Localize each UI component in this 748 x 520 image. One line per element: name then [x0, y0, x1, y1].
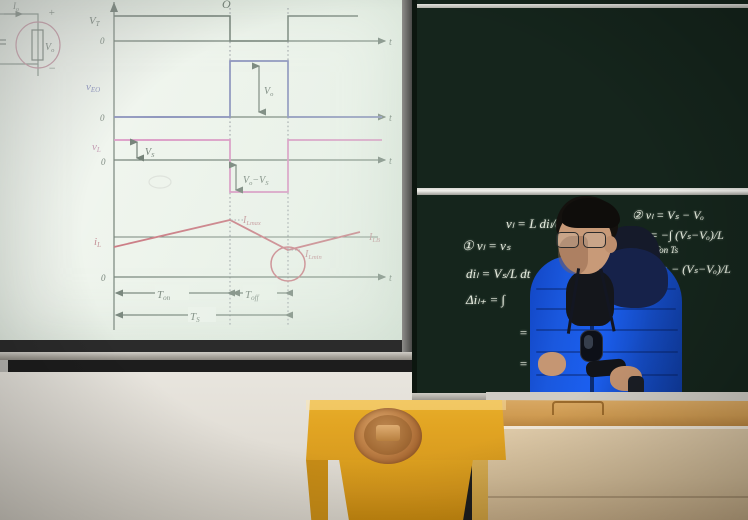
- plot-vl-ylabel: vL: [92, 141, 101, 154]
- plot-il-peak-label: ILmax: [242, 215, 261, 227]
- plot-vl-vo-vs-label: Vo−VS: [243, 175, 269, 187]
- slide-origin-label: O: [222, 0, 231, 11]
- podium-side: [306, 450, 328, 520]
- podium: [306, 400, 506, 520]
- circuit-io-label: Io: [12, 1, 19, 13]
- plot-vl-vs-label: VS: [145, 147, 155, 159]
- slide-buck-converter-waveforms: Io Vo + −: [0, 0, 402, 340]
- plot-il-zero: 0: [101, 273, 106, 283]
- plot-veo-xlabel: t: [389, 113, 392, 124]
- plot-inductor-current: iL 0 t ILmax ILmin ILB: [94, 215, 392, 284]
- plot-output-node-voltage: vEO 0 t Vo: [86, 61, 392, 124]
- plot-veo-annotation: Vo: [264, 86, 274, 98]
- lectern-desk: [486, 400, 748, 520]
- plot-il-boundary-label: ILB: [368, 232, 380, 244]
- screen-right-edge: [402, 0, 412, 352]
- plot-il-valley-label: ILmin: [304, 249, 322, 261]
- waveform-veo: [114, 61, 382, 117]
- plot-vl-xlabel: t: [389, 156, 392, 167]
- lecture-hall-photo: Io Vo + −: [0, 0, 748, 520]
- left-hand: [538, 352, 566, 376]
- chalk-line-l2: ① νₗ = νₛ: [462, 238, 511, 254]
- plot-il-xlabel: t: [389, 273, 392, 284]
- blackboard-top-trim: [414, 4, 748, 8]
- plot-veo-zero: 0: [100, 113, 105, 123]
- plot-transistor-voltage: VT 0 t O: [89, 0, 392, 48]
- hair-front: [562, 198, 620, 228]
- screen-bottom-bar: [0, 340, 412, 352]
- circuit-minus-sign: −: [48, 61, 56, 75]
- glasses-icon: [556, 232, 608, 247]
- plot-vt-ylabel: VT: [89, 15, 101, 28]
- plot-vt-zero: 0: [100, 36, 105, 46]
- desk-top: [486, 400, 748, 426]
- desk-handle: [552, 401, 604, 415]
- screen-rail: [0, 352, 420, 360]
- plot-il-ylabel: iL: [94, 236, 101, 249]
- waveform-vt: [114, 16, 358, 41]
- projection-screen-frame: Io Vo + −: [0, 0, 412, 352]
- circuit-vo-label: Vo: [45, 42, 55, 54]
- waveform-il: [114, 220, 360, 250]
- blackboard-left-edge: [412, 0, 417, 400]
- chalk-line-l4: Δiₗ₊ = ∫: [466, 292, 505, 308]
- plot-inductor-voltage: vL 0 t VS Vo−VS: [92, 140, 392, 192]
- desk-front-panel: [488, 426, 748, 520]
- blackboard-divider: [414, 188, 748, 195]
- circuit-plus-sign: +: [48, 7, 55, 19]
- podium-body: [322, 458, 490, 520]
- plot-veo-ylabel: vEO: [86, 81, 100, 94]
- plot-vl-zero: 0: [101, 157, 106, 167]
- plot-vt-xlabel: t: [389, 37, 392, 48]
